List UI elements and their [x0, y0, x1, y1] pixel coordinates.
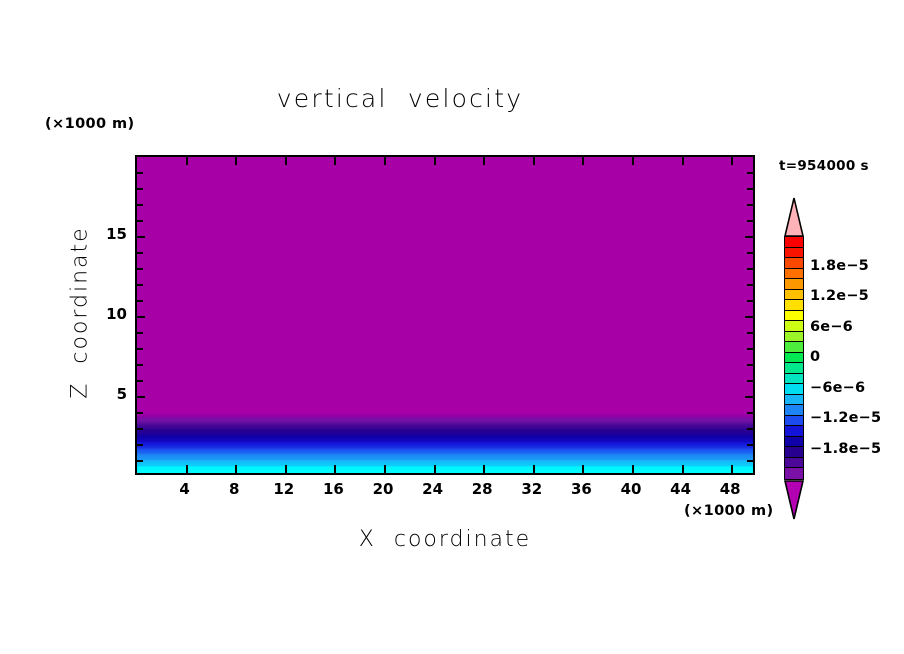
x-axis-tick	[682, 157, 684, 165]
y-axis-tick	[745, 236, 753, 238]
y-axis-minor-tick	[747, 300, 753, 302]
colorbar-band	[785, 426, 803, 437]
colorbar-band	[785, 311, 803, 322]
y-axis-minor-tick	[747, 428, 753, 430]
y-axis-tick-label: 5	[95, 385, 127, 403]
colorbar-band	[785, 363, 803, 374]
y-axis-minor-tick	[747, 348, 753, 350]
x-axis-title: X coordinate	[135, 527, 755, 552]
colorbar-band	[785, 374, 803, 385]
y-axis-title: Z coordinate	[68, 203, 93, 423]
x-axis-tick	[632, 157, 634, 165]
colorbar-band	[785, 384, 803, 395]
y-axis-tick	[745, 396, 753, 398]
colorbar-tick-label: 0	[810, 349, 820, 365]
y-axis-minor-tick	[747, 204, 753, 206]
figure-canvas: vertical velocity (×1000 m) Z coordinate	[0, 0, 904, 654]
x-axis-tick	[334, 465, 336, 473]
y-axis-minor-tick	[137, 252, 143, 254]
x-axis-tick	[285, 465, 287, 473]
y-axis-tick-label: 10	[95, 305, 127, 323]
x-axis-tick	[533, 465, 535, 473]
y-axis-tick	[137, 396, 145, 398]
colorbar-over-arrow	[784, 197, 804, 237]
x-axis-tick	[384, 157, 386, 165]
colorbar-tick-label: −6e−6	[810, 380, 865, 396]
y-axis-minor-tick	[747, 284, 753, 286]
colorbar-tick-label: 1.2e−5	[810, 288, 869, 304]
colorbar-band	[785, 332, 803, 343]
colorbar-band	[785, 279, 803, 290]
x-axis-tick	[186, 465, 188, 473]
colorbar-band	[785, 353, 803, 364]
colorbar-under-arrow	[784, 480, 804, 520]
y-axis-minor-tick	[747, 332, 753, 334]
y-axis-minor-tick	[137, 268, 143, 270]
colorbar-band	[785, 248, 803, 259]
x-axis-tick-label: 36	[559, 480, 603, 498]
y-axis-minor-tick	[137, 428, 143, 430]
x-axis-tick-label: 20	[361, 480, 405, 498]
colorbar-bands	[784, 236, 804, 480]
x-axis-tick	[285, 157, 287, 165]
x-axis-tick-label: 44	[659, 480, 703, 498]
x-axis-units-label: (×1000 m)	[684, 503, 774, 519]
y-axis-tick	[745, 316, 753, 318]
y-axis-tick-label: 15	[95, 225, 127, 243]
x-axis-tick	[483, 157, 485, 165]
y-axis-minor-tick	[747, 172, 753, 174]
y-axis-minor-tick	[137, 348, 143, 350]
colorbar-band	[785, 458, 803, 469]
y-axis-minor-tick	[137, 412, 143, 414]
x-axis-tick-label: 48	[708, 480, 752, 498]
y-axis-minor-tick	[747, 252, 753, 254]
colorbar-tick-label: −1.2e−5	[810, 410, 881, 426]
colorbar-tick-label: 1.8e−5	[810, 258, 869, 274]
y-axis-minor-tick	[747, 188, 753, 190]
colorbar-band	[785, 300, 803, 311]
x-axis-tick	[384, 465, 386, 473]
y-axis-minor-tick	[137, 188, 143, 190]
x-axis-tick	[731, 465, 733, 473]
x-axis-tick	[582, 465, 584, 473]
y-axis-minor-tick	[137, 172, 143, 174]
colorbar-band	[785, 321, 803, 332]
y-axis-minor-tick	[747, 364, 753, 366]
y-axis-units-label: (×1000 m)	[45, 116, 135, 132]
colorbar-band	[785, 258, 803, 269]
colorbar-band	[785, 395, 803, 406]
x-axis-tick	[334, 157, 336, 165]
x-axis-tick-label: 40	[609, 480, 653, 498]
velocity-field-image	[137, 157, 753, 473]
y-axis-minor-tick	[137, 380, 143, 382]
colorbar-band	[785, 290, 803, 301]
x-axis-tick-label: 12	[262, 480, 306, 498]
x-axis-tick-label: 4	[163, 480, 207, 498]
y-axis-minor-tick	[747, 380, 753, 382]
y-axis-minor-tick	[747, 460, 753, 462]
colorbar-band	[785, 437, 803, 448]
colorbar-band	[785, 447, 803, 458]
y-axis-minor-tick	[747, 444, 753, 446]
y-axis-minor-tick	[747, 412, 753, 414]
x-axis-tick	[235, 465, 237, 473]
y-axis-minor-tick	[137, 204, 143, 206]
page-title: vertical velocity	[0, 84, 800, 113]
x-axis-tick	[186, 157, 188, 165]
timestamp-annotation: t=954000 s	[779, 158, 869, 174]
x-axis-tick	[483, 465, 485, 473]
x-axis-tick	[235, 157, 237, 165]
x-axis-tick	[582, 157, 584, 165]
x-axis-tick-label: 8	[212, 480, 256, 498]
x-axis-tick	[731, 157, 733, 165]
colorbar-tick-label: −1.8e−5	[810, 441, 881, 457]
colorbar-band	[785, 416, 803, 427]
x-axis-tick-label: 16	[311, 480, 355, 498]
y-axis-minor-tick	[137, 220, 143, 222]
colorbar-band	[785, 342, 803, 353]
colorbar-band	[785, 468, 803, 479]
x-axis-tick	[434, 465, 436, 473]
x-axis-tick-label: 24	[411, 480, 455, 498]
y-axis-tick	[137, 316, 145, 318]
y-axis-minor-tick	[137, 460, 143, 462]
colorbar-tick-label: 6e−6	[810, 319, 853, 335]
x-axis-tick	[434, 157, 436, 165]
x-axis-tick-label: 28	[460, 480, 504, 498]
x-axis-tick	[682, 465, 684, 473]
y-axis-minor-tick	[137, 332, 143, 334]
y-axis-minor-tick	[747, 268, 753, 270]
y-axis-tick	[137, 236, 145, 238]
colorbar-band	[785, 405, 803, 416]
y-axis-minor-tick	[137, 364, 143, 366]
x-axis-tick-label: 32	[510, 480, 554, 498]
y-axis-minor-tick	[747, 220, 753, 222]
colorbar-band	[785, 237, 803, 248]
y-axis-minor-tick	[137, 444, 143, 446]
x-axis-tick	[533, 157, 535, 165]
y-axis-minor-tick	[137, 300, 143, 302]
y-axis-minor-tick	[137, 284, 143, 286]
colorbar-band	[785, 269, 803, 280]
x-axis-tick	[632, 465, 634, 473]
plot-area	[135, 155, 755, 475]
colorbar: 1.8e−51.2e−56e−60−6e−6−1.2e−5−1.8e−5	[780, 198, 808, 518]
